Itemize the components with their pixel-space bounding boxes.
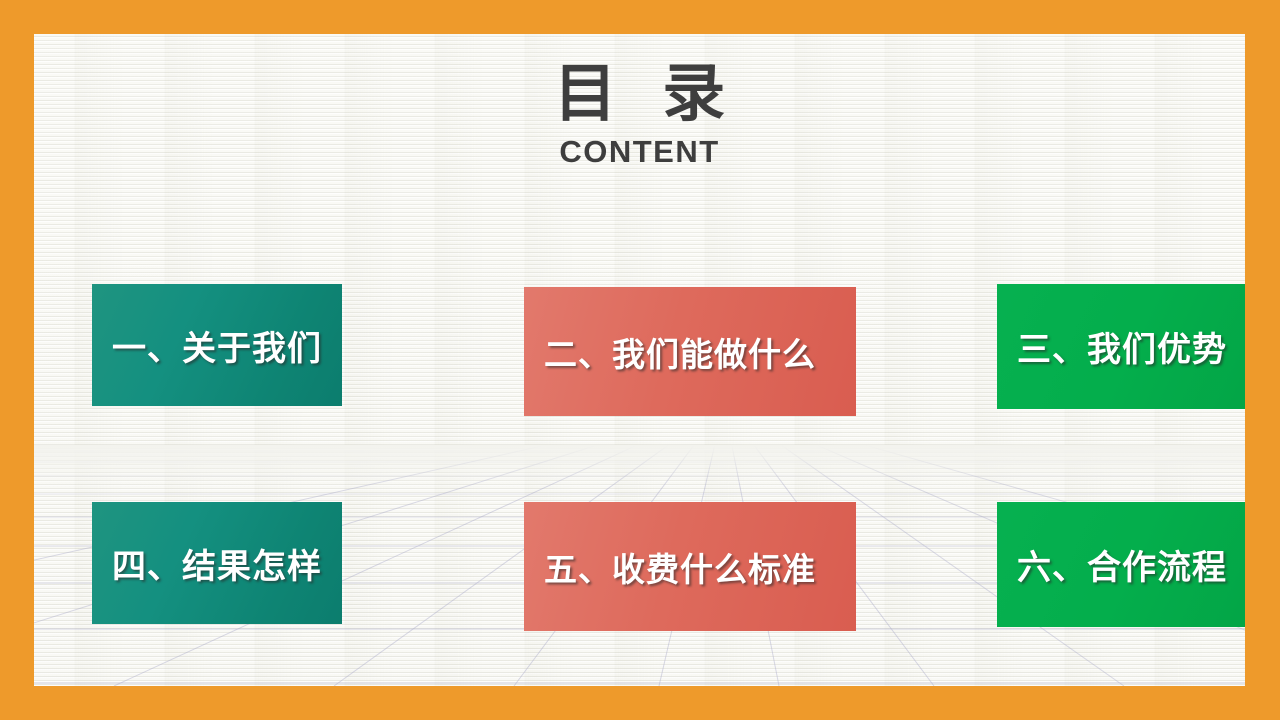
content-item-4-label: 四、结果怎样 — [92, 539, 322, 588]
content-item-6-label: 六、合作流程 — [997, 540, 1227, 589]
slide-canvas: 目 录 CONTENT 一、关于我们 二、我们能做什么 三、我们优势 四、结果怎… — [34, 34, 1245, 686]
content-item-3-label: 三、我们优势 — [997, 322, 1227, 371]
page-title: 目 录 — [34, 60, 1245, 128]
content-item-1-label: 一、关于我们 — [92, 321, 322, 370]
content-item-3[interactable]: 三、我们优势 — [997, 284, 1245, 409]
content-item-4[interactable]: 四、结果怎样 — [92, 502, 342, 624]
slide-frame: 目 录 CONTENT 一、关于我们 二、我们能做什么 三、我们优势 四、结果怎… — [0, 0, 1280, 720]
content-item-2[interactable]: 二、我们能做什么 — [524, 287, 856, 416]
content-item-5-label: 五、收费什么标准 — [524, 543, 816, 591]
content-item-2-label: 二、我们能做什么 — [524, 328, 816, 376]
content-item-1[interactable]: 一、关于我们 — [92, 284, 342, 406]
title-block: 目 录 CONTENT — [34, 60, 1245, 170]
page-subtitle: CONTENT — [34, 134, 1245, 170]
content-item-5[interactable]: 五、收费什么标准 — [524, 502, 856, 631]
content-item-6[interactable]: 六、合作流程 — [997, 502, 1245, 627]
